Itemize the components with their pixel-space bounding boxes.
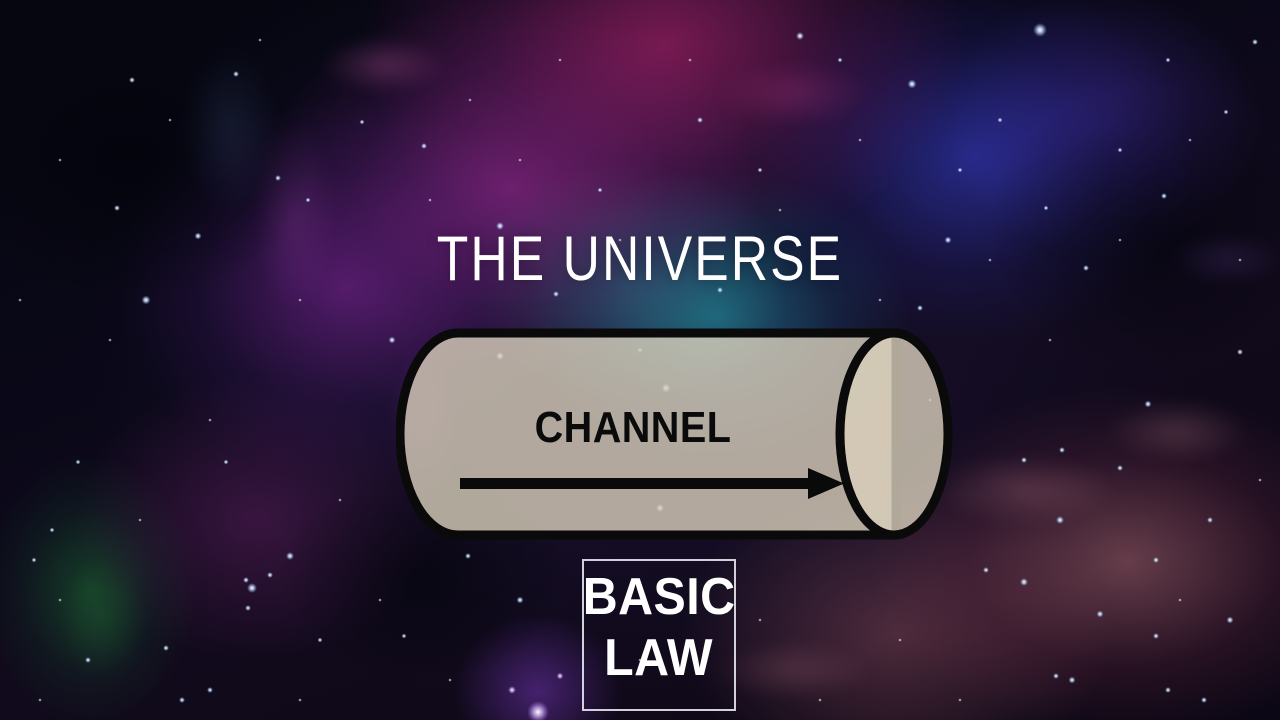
channel-cylinder: CHANNEL — [396, 328, 956, 540]
slide-canvas: THE UNIVERSE CHANNEL BASIC LAW — [0, 0, 1280, 720]
basic-law-line-2: LAW — [605, 628, 714, 689]
cylinder-end-cap — [840, 333, 948, 535]
basic-law-line-1: BASIC — [583, 567, 736, 628]
page-title: THE UNIVERSE — [115, 228, 1165, 291]
channel-label: CHANNEL — [420, 406, 847, 450]
basic-law-callout: BASIC LAW — [582, 559, 736, 711]
